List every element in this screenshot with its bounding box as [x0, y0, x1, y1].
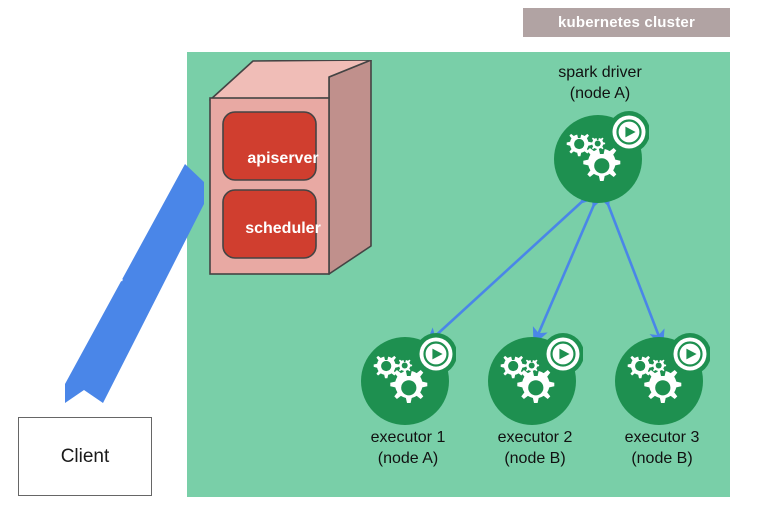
executor-1-node[interactable] [360, 330, 456, 426]
executor-2-node[interactable] [487, 330, 583, 426]
apiserver-block [223, 112, 316, 180]
spark-driver-node-name: (node A) [510, 84, 690, 105]
executor-3-title: executor 3 [567, 428, 757, 449]
cube-side-face [329, 60, 371, 274]
spark-driver-caption: spark driver (node A) [510, 63, 690, 105]
diagram-canvas: kubernetes cluster [0, 0, 761, 516]
executor-3-node-name: (node B) [567, 449, 757, 470]
kubernetes-cluster-label: kubernetes cluster [558, 14, 695, 31]
spark-submit-arrow [55, 160, 220, 410]
kubernetes-cluster-badge: kubernetes cluster [523, 8, 730, 37]
ribbon-arrow-icon [65, 164, 204, 403]
executor-3-node[interactable] [614, 330, 710, 426]
executor-3-caption: executor 3 (node B) [567, 428, 757, 470]
control-plane-cube [205, 60, 375, 285]
scheduler-block [223, 190, 316, 258]
spark-driver-title: spark driver [510, 63, 690, 84]
spark-driver-node[interactable] [553, 108, 649, 204]
client-label: Client [61, 446, 110, 468]
client-box[interactable]: Client [18, 417, 152, 496]
